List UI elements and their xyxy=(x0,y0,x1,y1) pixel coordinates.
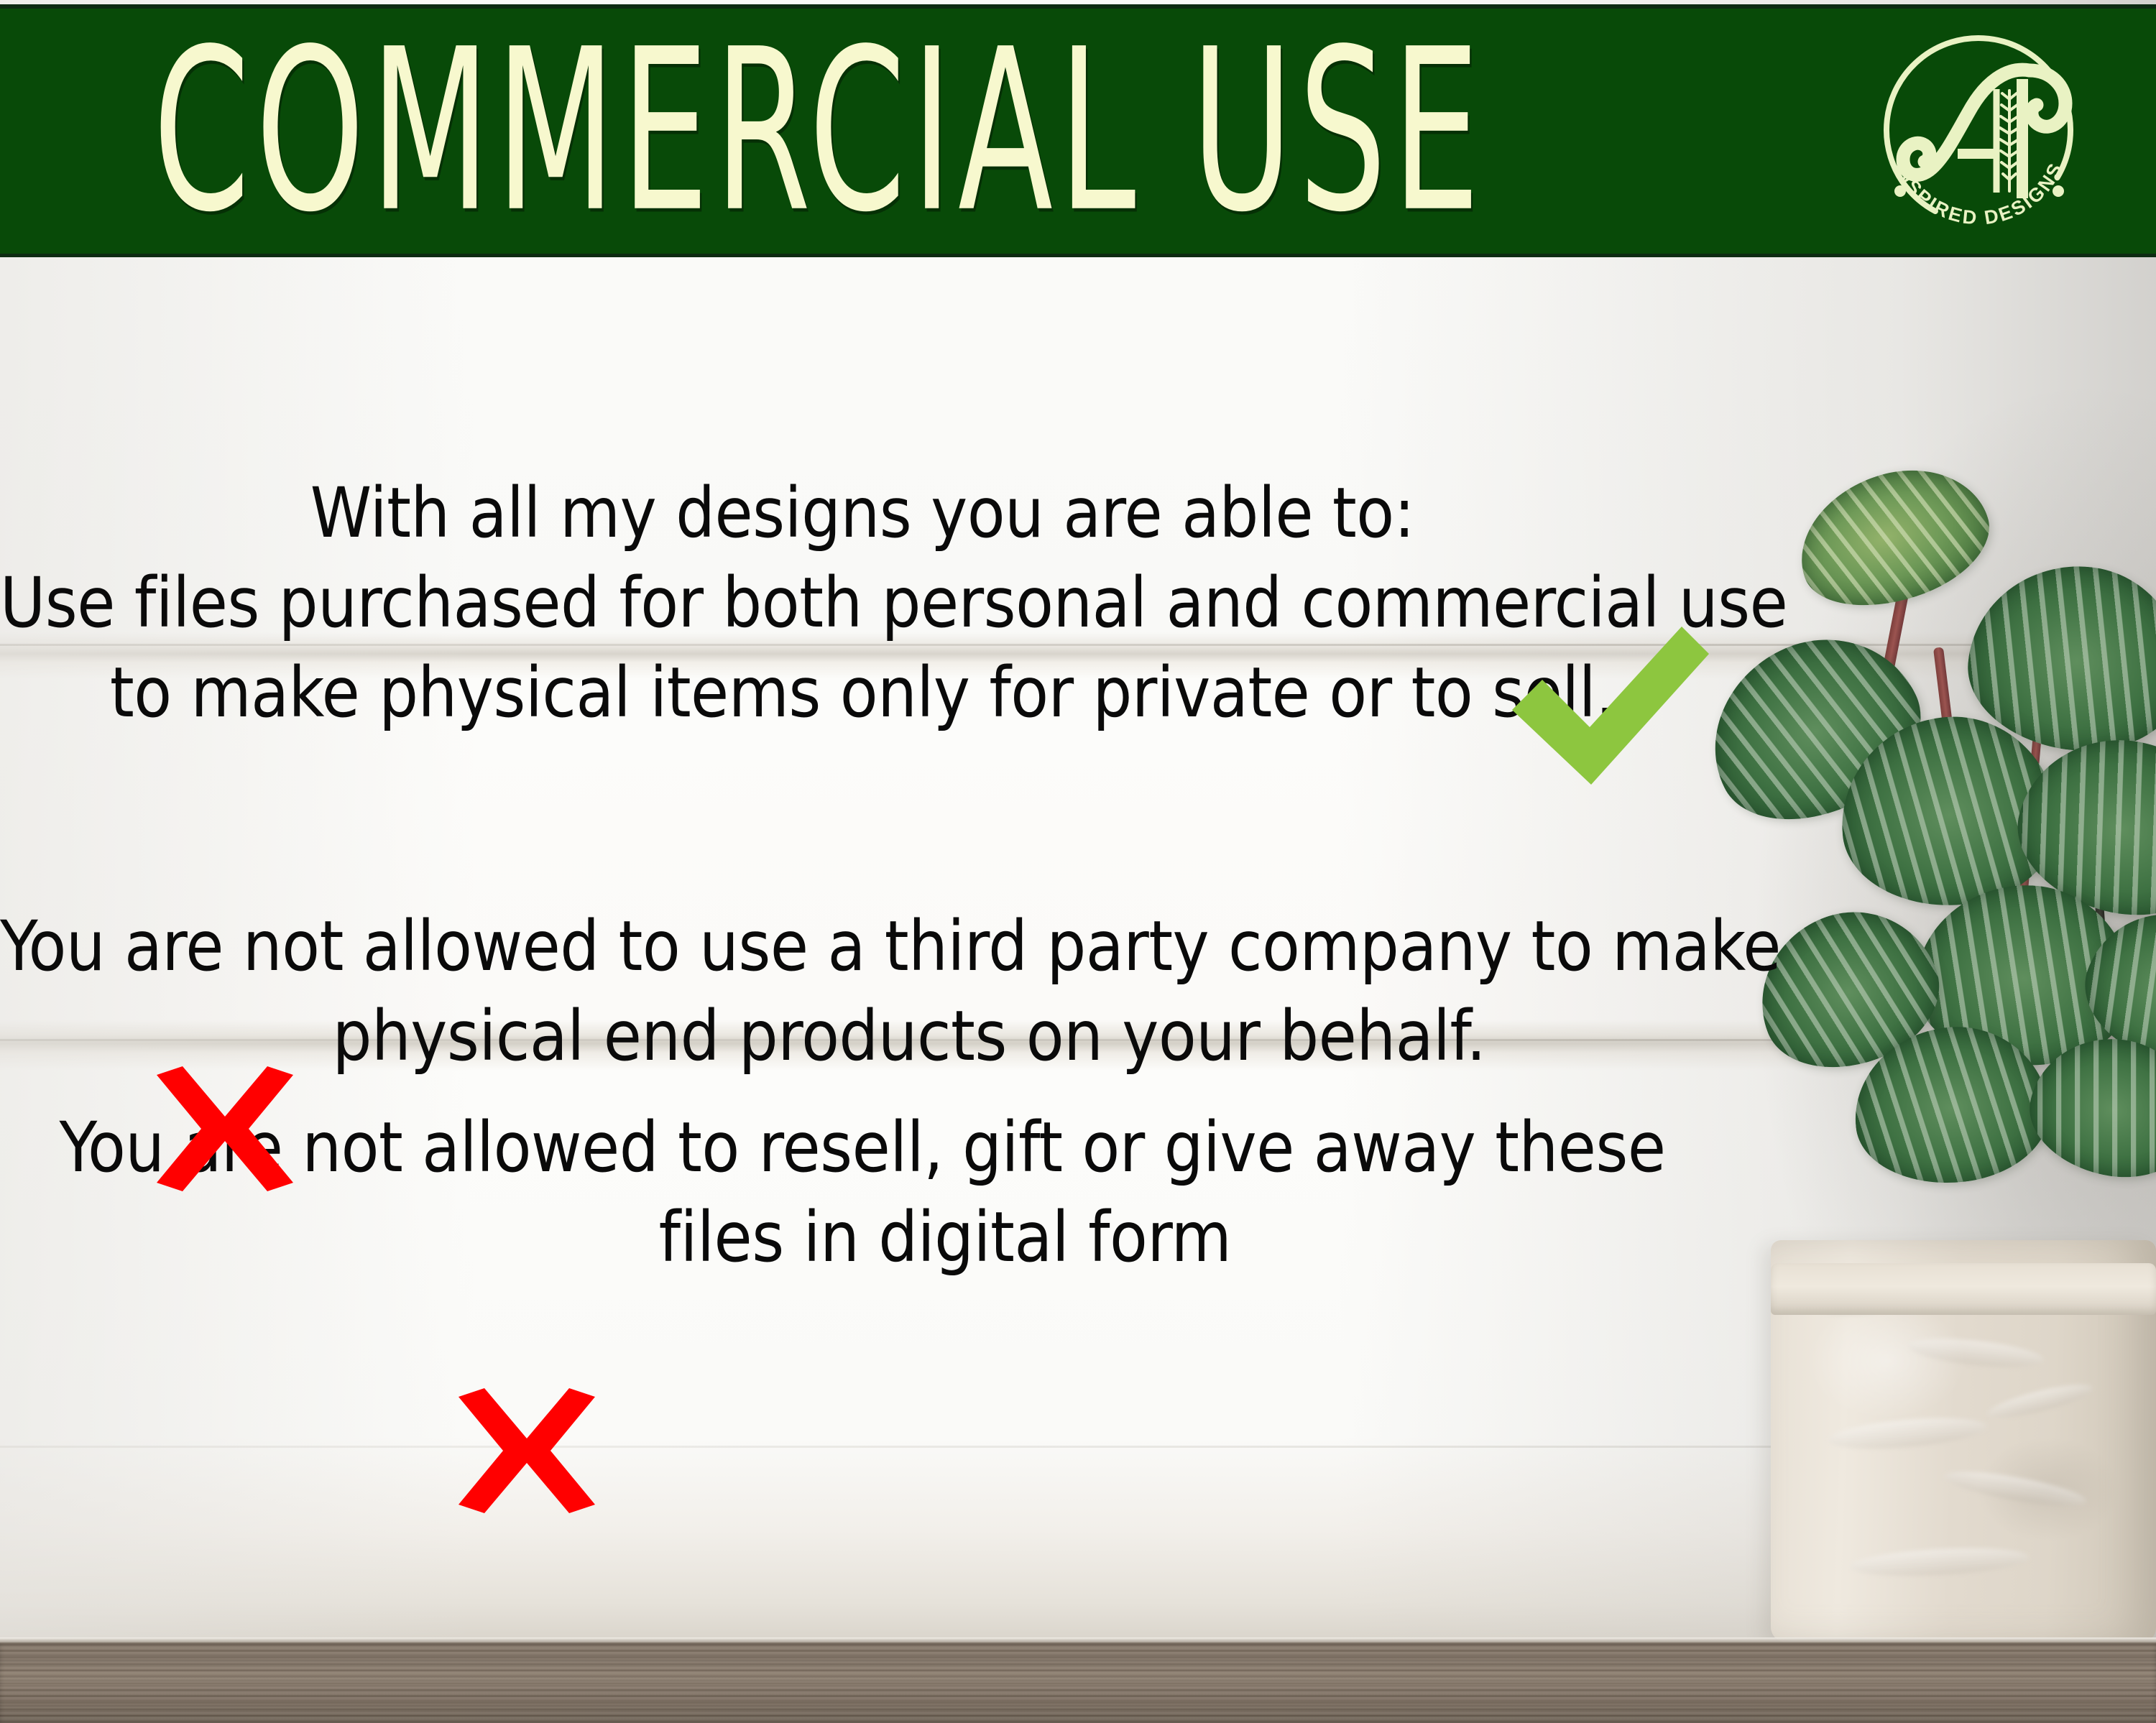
wooden-shelf xyxy=(0,1643,2156,1723)
not-allowed-2-line-2: files in digital form xyxy=(0,1193,1725,1283)
green-check-icon xyxy=(1501,616,1709,812)
commercial-use-poster: COMMERCIAL USE xyxy=(0,0,2156,1723)
planter-rim xyxy=(1771,1263,2156,1315)
not-allowed-paragraph-1: You are not allowed to use a third party… xyxy=(0,902,1725,1081)
allowed-line-2: to make physical items only for private … xyxy=(0,648,1725,738)
not-allowed-section-1: You are not allowed to use a third party… xyxy=(0,902,1725,1081)
brand-logo: INSPIRED DESIGNS xyxy=(1863,19,2094,250)
allowed-heading: With all my designs you are able to: xyxy=(0,468,1725,558)
red-cross-icon xyxy=(450,1387,604,1515)
plant-leaf xyxy=(1782,448,2004,627)
red-cross-icon xyxy=(148,1065,302,1193)
not-allowed-1-line-1: You are not allowed to use a third party… xyxy=(0,902,1725,992)
allowed-paragraph: With all my designs you are able to: Use… xyxy=(0,468,1725,737)
allowed-line-1: Use files purchased for both personal an… xyxy=(0,558,1725,648)
allowed-section: With all my designs you are able to: Use… xyxy=(0,468,1725,737)
shelf-edge xyxy=(0,1637,2156,1643)
page-title: COMMERCIAL USE xyxy=(164,4,1475,257)
header-banner: COMMERCIAL USE xyxy=(0,4,2156,257)
